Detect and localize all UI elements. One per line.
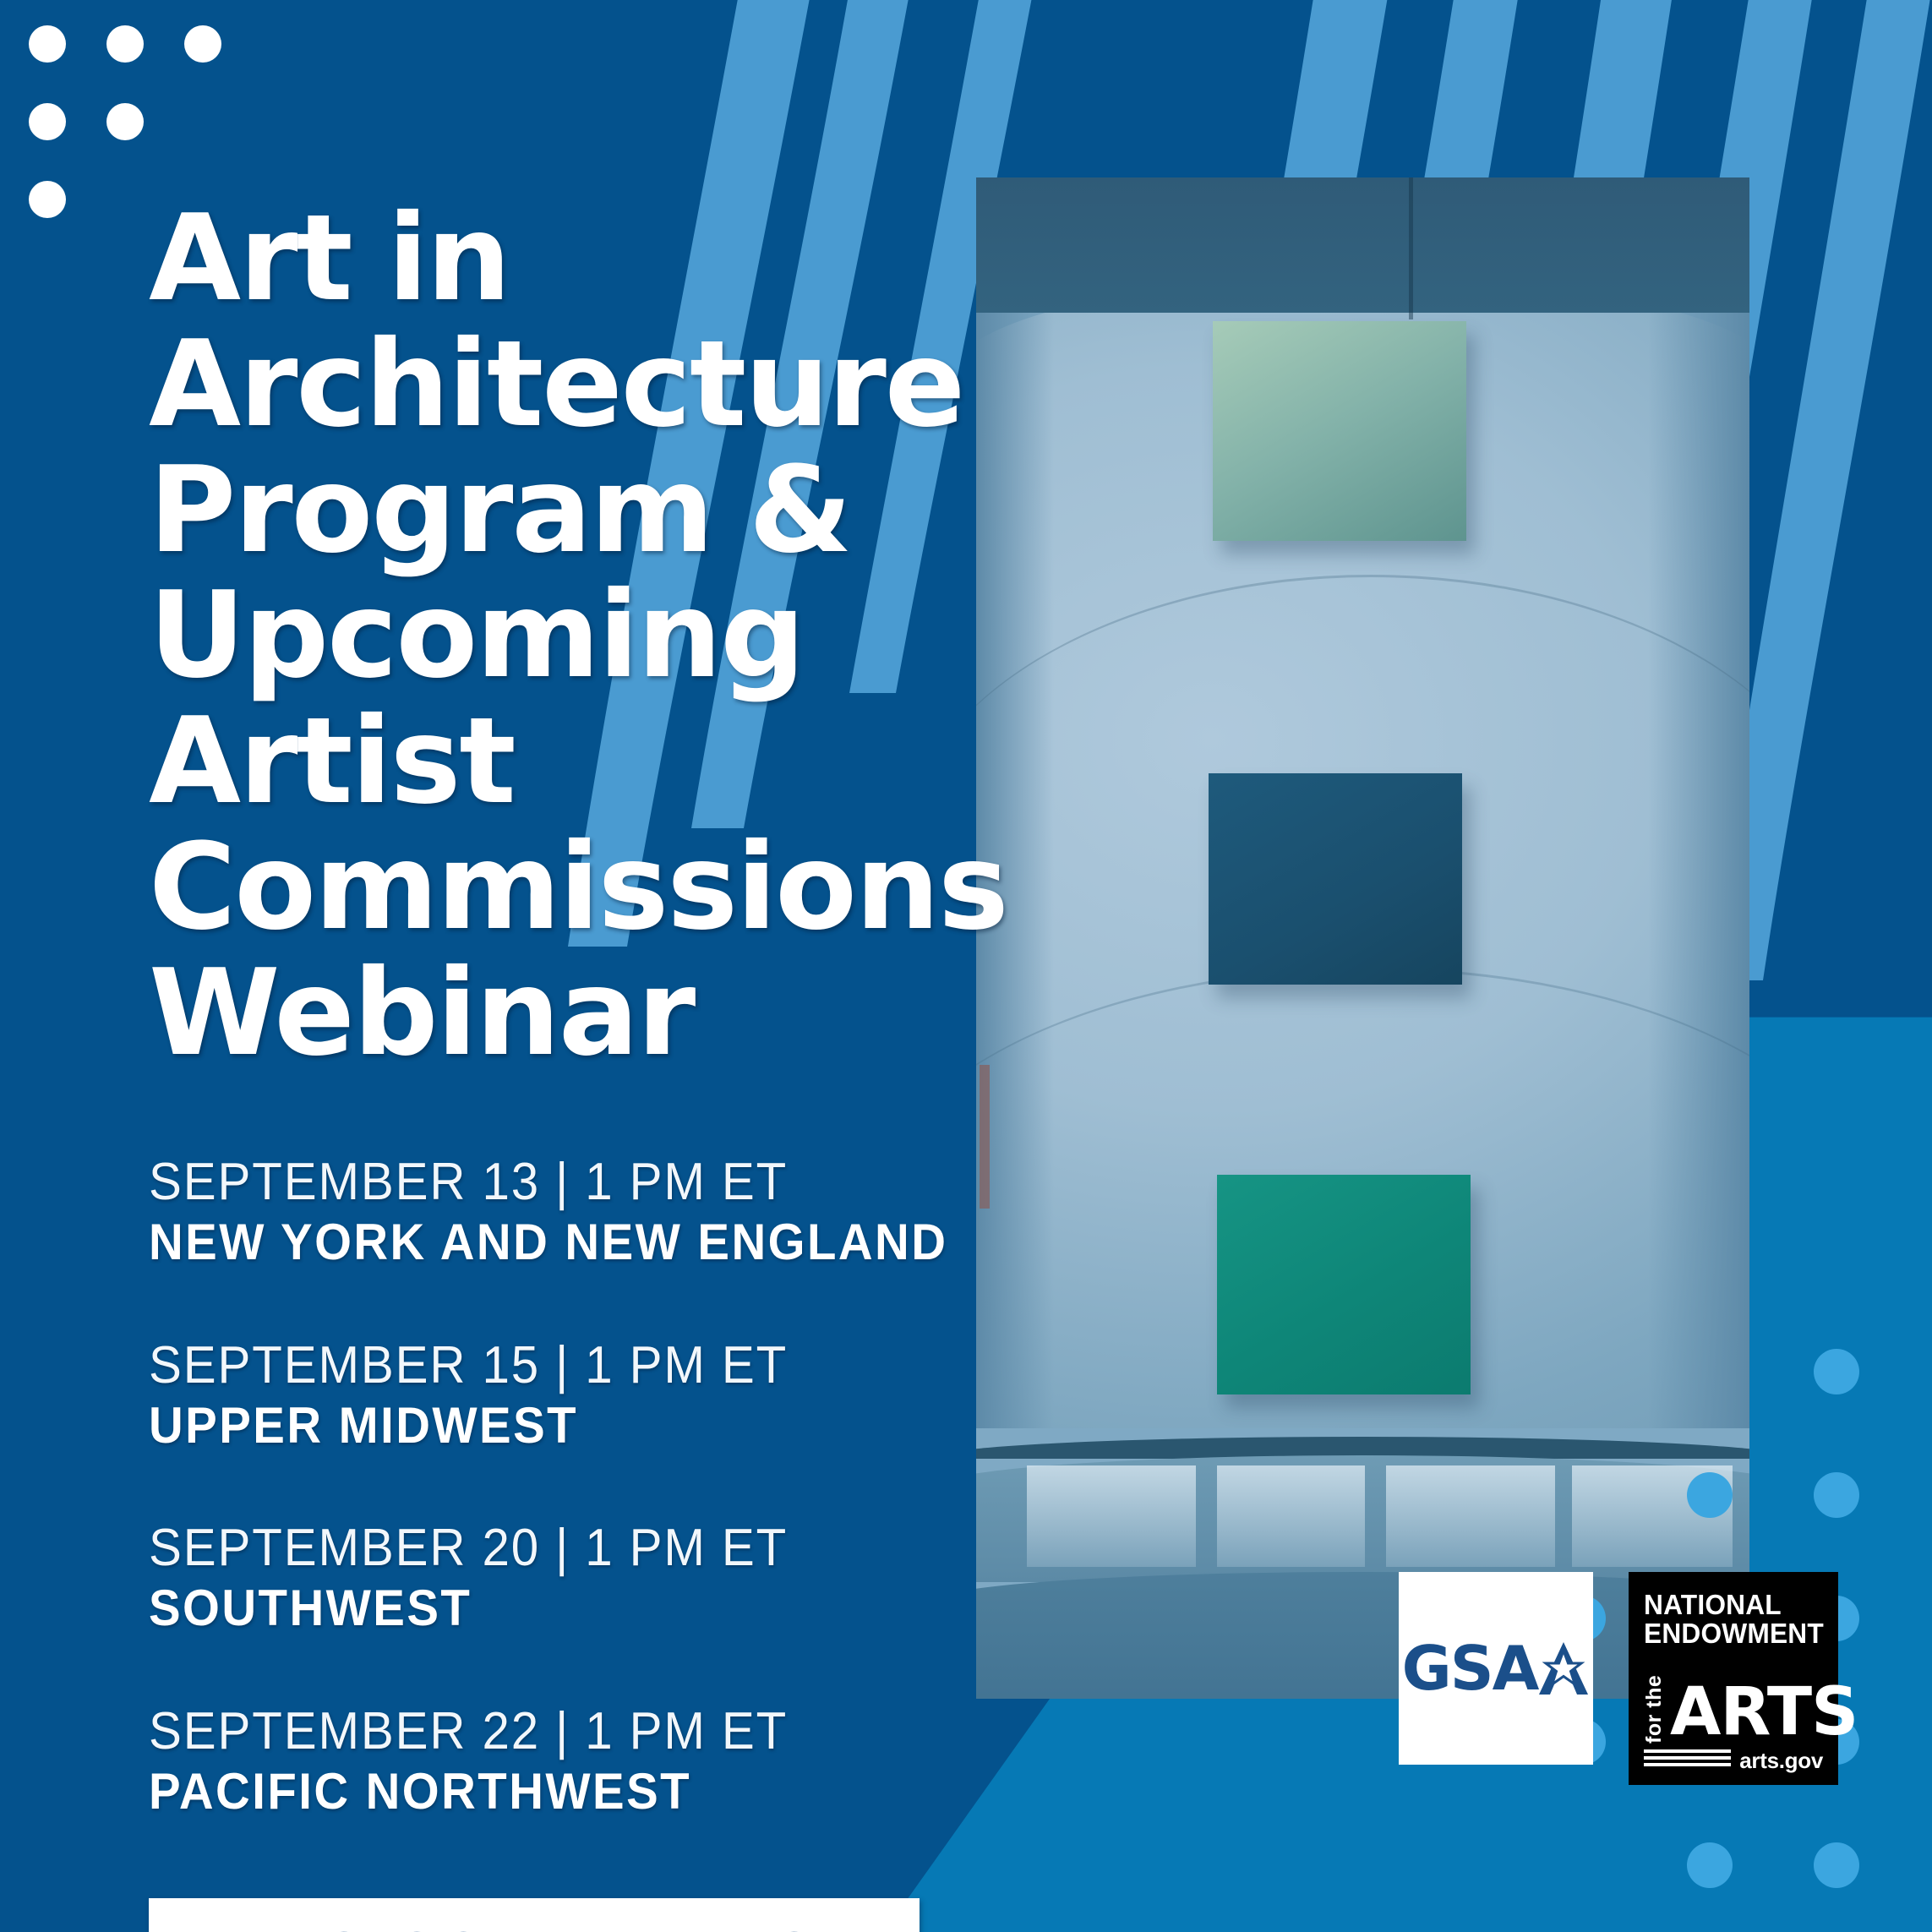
promo-poster: Art in Architecture Program & Upcoming A… xyxy=(0,0,1932,1932)
headline-line-1: Art in Architecture xyxy=(149,196,1273,448)
webinar-schedule-list: SEPTEMBER 13 | 1 PM ET NEW YORK AND NEW … xyxy=(149,1152,1273,1820)
schedule-item: SEPTEMBER 20 | 1 PM ET SOUTHWEST xyxy=(149,1518,1273,1638)
schedule-region: NEW YORK AND NEW ENGLAND xyxy=(149,1213,1205,1272)
nea-logo-bottom: arts.gov xyxy=(1644,1749,1823,1771)
nea-line-arts: ARTS xyxy=(1670,1683,1858,1744)
nea-logo-top: NATIONAL ENDOWMENT xyxy=(1644,1591,1816,1647)
gsa-logo-text: GSA xyxy=(1402,1638,1538,1699)
schedule-item: SEPTEMBER 15 | 1 PM ET UPPER MIDWEST xyxy=(149,1335,1273,1455)
headline-line-3: Artist Commissions xyxy=(149,699,1273,951)
gsa-star-icon xyxy=(1537,1640,1590,1696)
events-url-button[interactable]: ARTS.GOV/EVENTS xyxy=(149,1898,920,1932)
nea-logo-mid: for the ARTS xyxy=(1644,1656,1823,1744)
headline-line-4: Webinar xyxy=(149,951,1273,1077)
schedule-date: SEPTEMBER 15 | 1 PM ET xyxy=(149,1335,1205,1396)
schedule-region: SOUTHWEST xyxy=(149,1579,1205,1638)
schedule-date: SEPTEMBER 13 | 1 PM ET xyxy=(149,1152,1205,1213)
schedule-date: SEPTEMBER 22 | 1 PM ET xyxy=(149,1701,1205,1762)
ceiling-seam xyxy=(1409,177,1413,319)
events-url-label: ARTS.GOV/EVENTS xyxy=(196,1927,818,1932)
nea-line-forthe: for the xyxy=(1644,1656,1665,1744)
headline-line-2: Program & Upcoming xyxy=(149,448,1273,700)
schedule-region: PACIFIC NORTHWEST xyxy=(149,1762,1205,1821)
page-title: Art in Architecture Program & Upcoming A… xyxy=(149,196,1273,1076)
schedule-region: UPPER MIDWEST xyxy=(149,1396,1205,1455)
schedule-date: SEPTEMBER 20 | 1 PM ET xyxy=(149,1518,1205,1579)
schedule-item: SEPTEMBER 22 | 1 PM ET PACIFIC NORTHWEST xyxy=(149,1701,1273,1821)
content-column: Art in Architecture Program & Upcoming A… xyxy=(149,196,1273,1932)
nea-rule-lines xyxy=(1644,1749,1731,1771)
dot-pattern-top-left xyxy=(0,0,220,203)
schedule-item: SEPTEMBER 13 | 1 PM ET NEW YORK AND NEW … xyxy=(149,1152,1273,1272)
nea-line-national: NATIONAL xyxy=(1644,1591,1816,1619)
nea-logo: NATIONAL ENDOWMENT for the ARTS arts.gov xyxy=(1629,1572,1838,1785)
gsa-wordmark: GSA xyxy=(1402,1638,1591,1699)
nea-url-label: arts.gov xyxy=(1739,1749,1823,1771)
logo-group: GSA NATIONAL ENDOWMENT for the ARTS ar xyxy=(1399,1572,1838,1785)
gsa-logo: GSA xyxy=(1399,1572,1593,1765)
nea-line-endowment: ENDOWMENT xyxy=(1644,1619,1816,1648)
